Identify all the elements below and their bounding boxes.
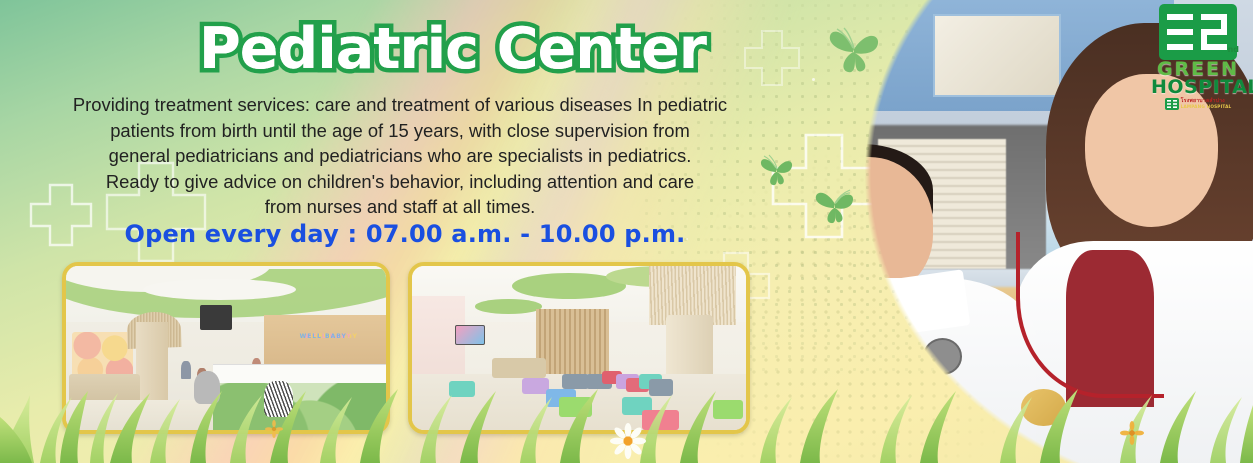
child-ear bbox=[799, 218, 829, 260]
mural-donkey bbox=[194, 371, 220, 404]
logo-footer: โรงพยาบาลลำปาง LAMPANG HOSPITAL bbox=[1151, 98, 1245, 110]
lobby-reception-desk bbox=[213, 364, 386, 430]
lobby-wood-wall bbox=[264, 315, 386, 371]
corridor-photo-card[interactable] bbox=[408, 262, 750, 434]
corridor-wood-slat-wall bbox=[536, 309, 609, 378]
lobby-photo-card[interactable]: WELL BABY bbox=[62, 262, 390, 434]
ottoman-seat bbox=[559, 397, 592, 417]
opening-hours: Open every day : 07.00 a.m. - 10.00 p.m. bbox=[40, 220, 770, 248]
lobby-desk-mural bbox=[213, 383, 386, 430]
corridor-bench bbox=[492, 358, 545, 378]
anniversary-suffix: nd bbox=[1228, 45, 1239, 54]
mural-zebra bbox=[264, 381, 293, 417]
ottoman-seat bbox=[449, 381, 476, 397]
stethoscope-chestpiece bbox=[923, 338, 962, 375]
lampang-emblem-icon bbox=[1165, 98, 1179, 110]
clinic-poster bbox=[933, 14, 1061, 97]
corridor-green-ceiling-panel bbox=[475, 299, 542, 314]
anniversary-32-mark: nd bbox=[1159, 4, 1237, 60]
description-line: Providing treatment services: care and t… bbox=[40, 92, 760, 118]
well-baby-sign: WELL BABY bbox=[300, 333, 347, 340]
logo-hospital-text: HOSPITAL bbox=[1151, 78, 1245, 97]
logo-english-name: LAMPANG HOSPITAL bbox=[1181, 104, 1232, 109]
description-line: patients from birth until the age of 15 … bbox=[40, 118, 760, 144]
description-line: general pediatricians and pediatricians … bbox=[40, 143, 760, 169]
lobby-tv bbox=[200, 305, 232, 330]
uniform-badge: อ.ญ.พ. 20402 bbox=[819, 370, 850, 392]
page-title: Pediatric Center bbox=[199, 16, 706, 82]
lobby-photo-image: WELL BABY bbox=[66, 266, 386, 430]
doctor-wristwatch bbox=[1021, 389, 1065, 426]
description-line: from nurses and staff at all times. bbox=[40, 194, 760, 220]
lobby-tree-column bbox=[136, 322, 168, 407]
ottoman-seat bbox=[642, 410, 679, 430]
description-line: Ready to give advice on children's behav… bbox=[40, 169, 760, 195]
corridor-tv-screen bbox=[455, 325, 485, 345]
uniform-badge-number: 20402 bbox=[819, 381, 850, 392]
description-block: Providing treatment services: care and t… bbox=[40, 92, 760, 220]
ottoman-seat bbox=[713, 400, 743, 418]
ottoman-seat bbox=[649, 379, 672, 395]
uniform-badge-thai: อ.ญ.พ. bbox=[819, 370, 850, 381]
hospital-logo[interactable]: nd GREEN HOSPITAL โรงพยาบาลลำปาง LAMPANG… bbox=[1151, 4, 1245, 110]
corridor-photo-image bbox=[412, 266, 746, 430]
pediatric-center-banner: อ.ญ.พ. 20402 bbox=[0, 0, 1253, 463]
lobby-visitor bbox=[181, 361, 191, 379]
ottoman-seat bbox=[522, 378, 549, 394]
